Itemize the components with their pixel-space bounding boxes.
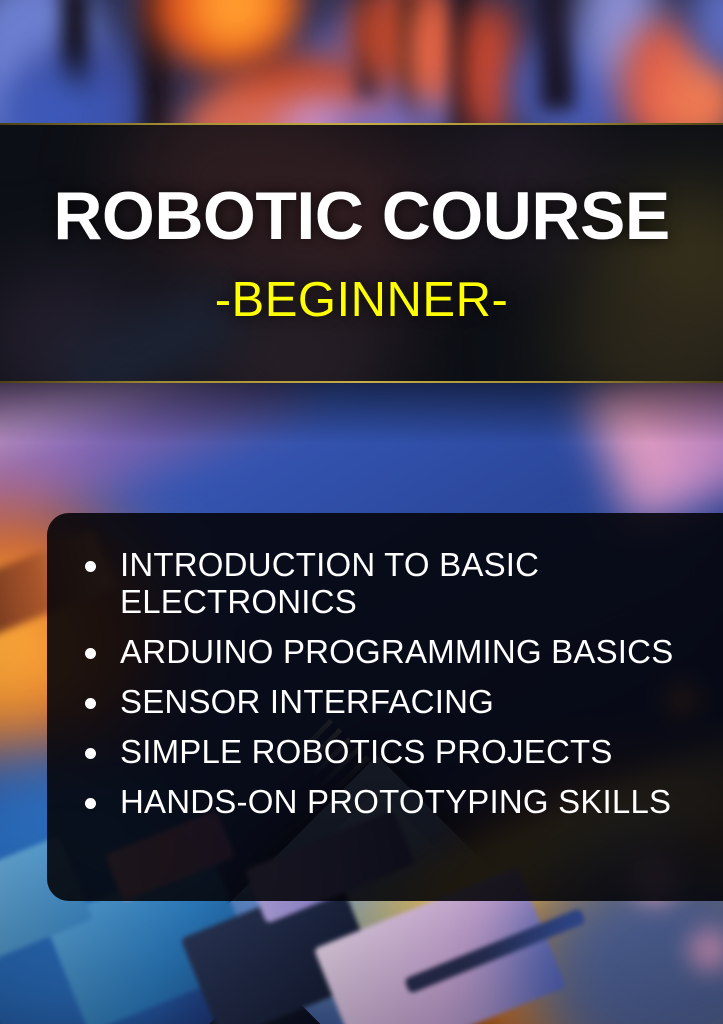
list-item: SENSOR INTERFACING	[85, 684, 705, 721]
list-item-label: ARDUINO PROGRAMMING BASICS	[120, 633, 673, 670]
list-item: ARDUINO PROGRAMMING BASICS	[85, 634, 705, 671]
list-item-label: INTRODUCTION TO BASIC ELECTRONICS	[120, 546, 539, 620]
curriculum-panel: INTRODUCTION TO BASIC ELECTRONICS ARDUIN…	[47, 513, 723, 901]
list-item: HANDS-ON PROTOTYPING SKILLS	[85, 784, 705, 821]
list-item: SIMPLE ROBOTICS PROJECTS	[85, 734, 705, 771]
photo-top-shade	[0, 383, 723, 443]
list-item-label: SIMPLE ROBOTICS PROJECTS	[120, 733, 613, 770]
page-subtitle: -BEGINNER-	[215, 276, 509, 325]
top-bokeh-strip	[0, 0, 723, 123]
page-title: ROBOTIC COURSE	[53, 182, 669, 250]
list-item: INTRODUCTION TO BASIC ELECTRONICS	[85, 547, 705, 621]
list-item-label: SENSOR INTERFACING	[120, 683, 494, 720]
list-item-label: HANDS-ON PROTOTYPING SKILLS	[120, 783, 671, 820]
curriculum-list: INTRODUCTION TO BASIC ELECTRONICS ARDUIN…	[85, 547, 705, 821]
header-banner: ROBOTIC COURSE -BEGINNER-	[0, 123, 723, 383]
poster-root: ROBOTIC COURSE -BEGINNER-	[0, 0, 723, 1024]
